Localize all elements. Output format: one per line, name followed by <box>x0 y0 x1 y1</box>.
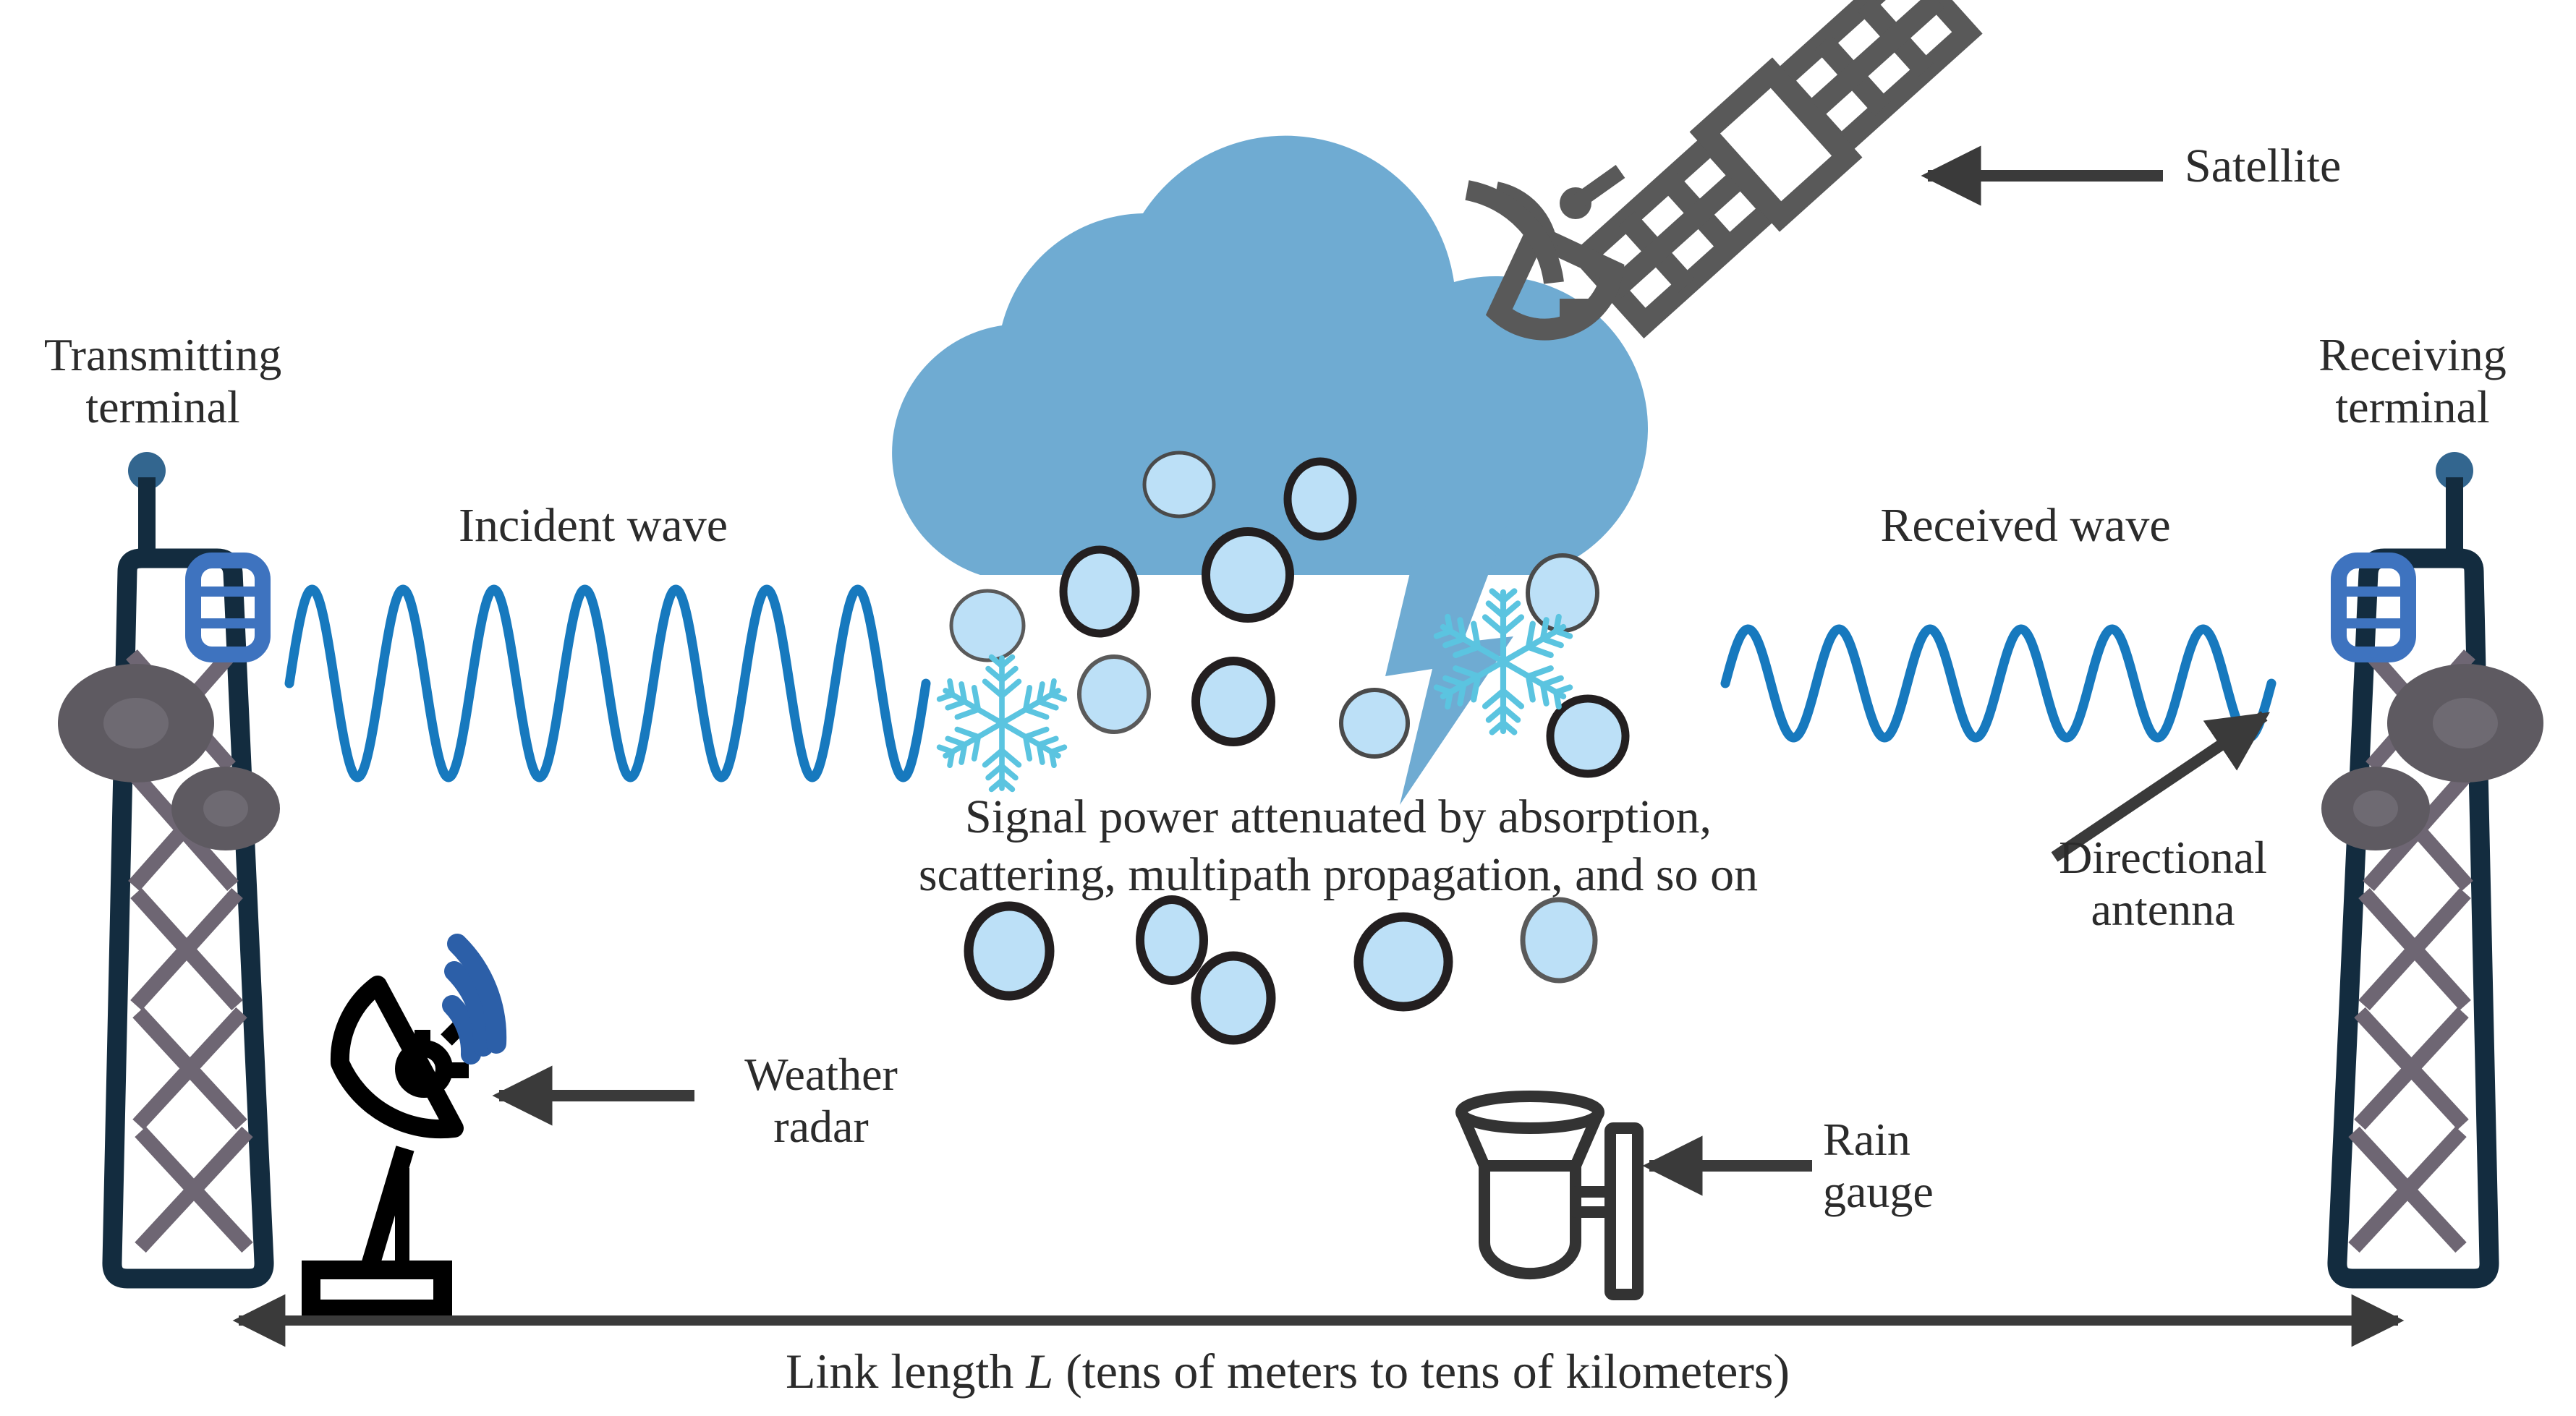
raindrop-icon <box>1144 453 1214 516</box>
snowflake-icon <box>936 657 1068 790</box>
raindrop-icon <box>951 591 1024 660</box>
caption-prefix: Link length <box>786 1344 1026 1399</box>
caption-symbol-L: L <box>1026 1344 1053 1399</box>
raindrop-icon <box>1523 900 1595 981</box>
label-transmitting-terminal: Transmitting terminal <box>7 329 318 432</box>
diagram-canvas: Transmitting terminal Receiving terminal… <box>0 0 2576 1416</box>
raindrop-icon <box>1196 956 1271 1040</box>
raindrop-icon <box>1341 690 1408 756</box>
label-satellite: Satellite <box>2185 140 2532 193</box>
caption-suffix: (tens of meters to tens of kilometers) <box>1053 1344 1790 1399</box>
caption-link-length: Link length L (tens of meters to tens of… <box>492 1344 2083 1399</box>
raindrop-icon <box>1196 661 1271 742</box>
raindrop-icon <box>1550 699 1625 774</box>
label-rain-gauge: Rain gauge <box>1823 1114 2062 1217</box>
raindrop-icon <box>969 906 1050 996</box>
wave-group <box>289 589 2271 777</box>
weather-radar-icon[interactable] <box>311 944 496 1309</box>
raindrop-icon <box>1206 532 1290 618</box>
raindrop-icon <box>1359 917 1448 1007</box>
diagram-artwork <box>0 0 2576 1416</box>
label-incident-wave: Incident wave <box>362 499 825 553</box>
raindrop-icon <box>1528 555 1597 631</box>
label-weather-radar: Weather radar <box>676 1049 966 1152</box>
raindrop-icon <box>1288 461 1353 537</box>
label-receiving-terminal: Receiving terminal <box>2257 329 2568 432</box>
raindrop-icon <box>1079 657 1149 732</box>
rain-gauge-icon[interactable] <box>1461 1096 1638 1295</box>
label-directional-antenna: Directional antenna <box>1975 832 2351 935</box>
tower-icon-left[interactable] <box>58 452 280 1279</box>
raindrop-icon <box>1140 900 1204 981</box>
received-wave-icon <box>1725 629 2271 738</box>
note-attenuation-line1: Signal power attenuated by absorption, <box>723 788 1953 845</box>
raindrop-icon <box>1063 550 1136 634</box>
incident-wave-icon <box>289 589 926 777</box>
label-received-wave: Received wave <box>1794 499 2257 553</box>
note-attenuation-line2: scattering, multipath propagation, and s… <box>723 846 1953 903</box>
tower-icon-right[interactable] <box>2321 452 2543 1279</box>
